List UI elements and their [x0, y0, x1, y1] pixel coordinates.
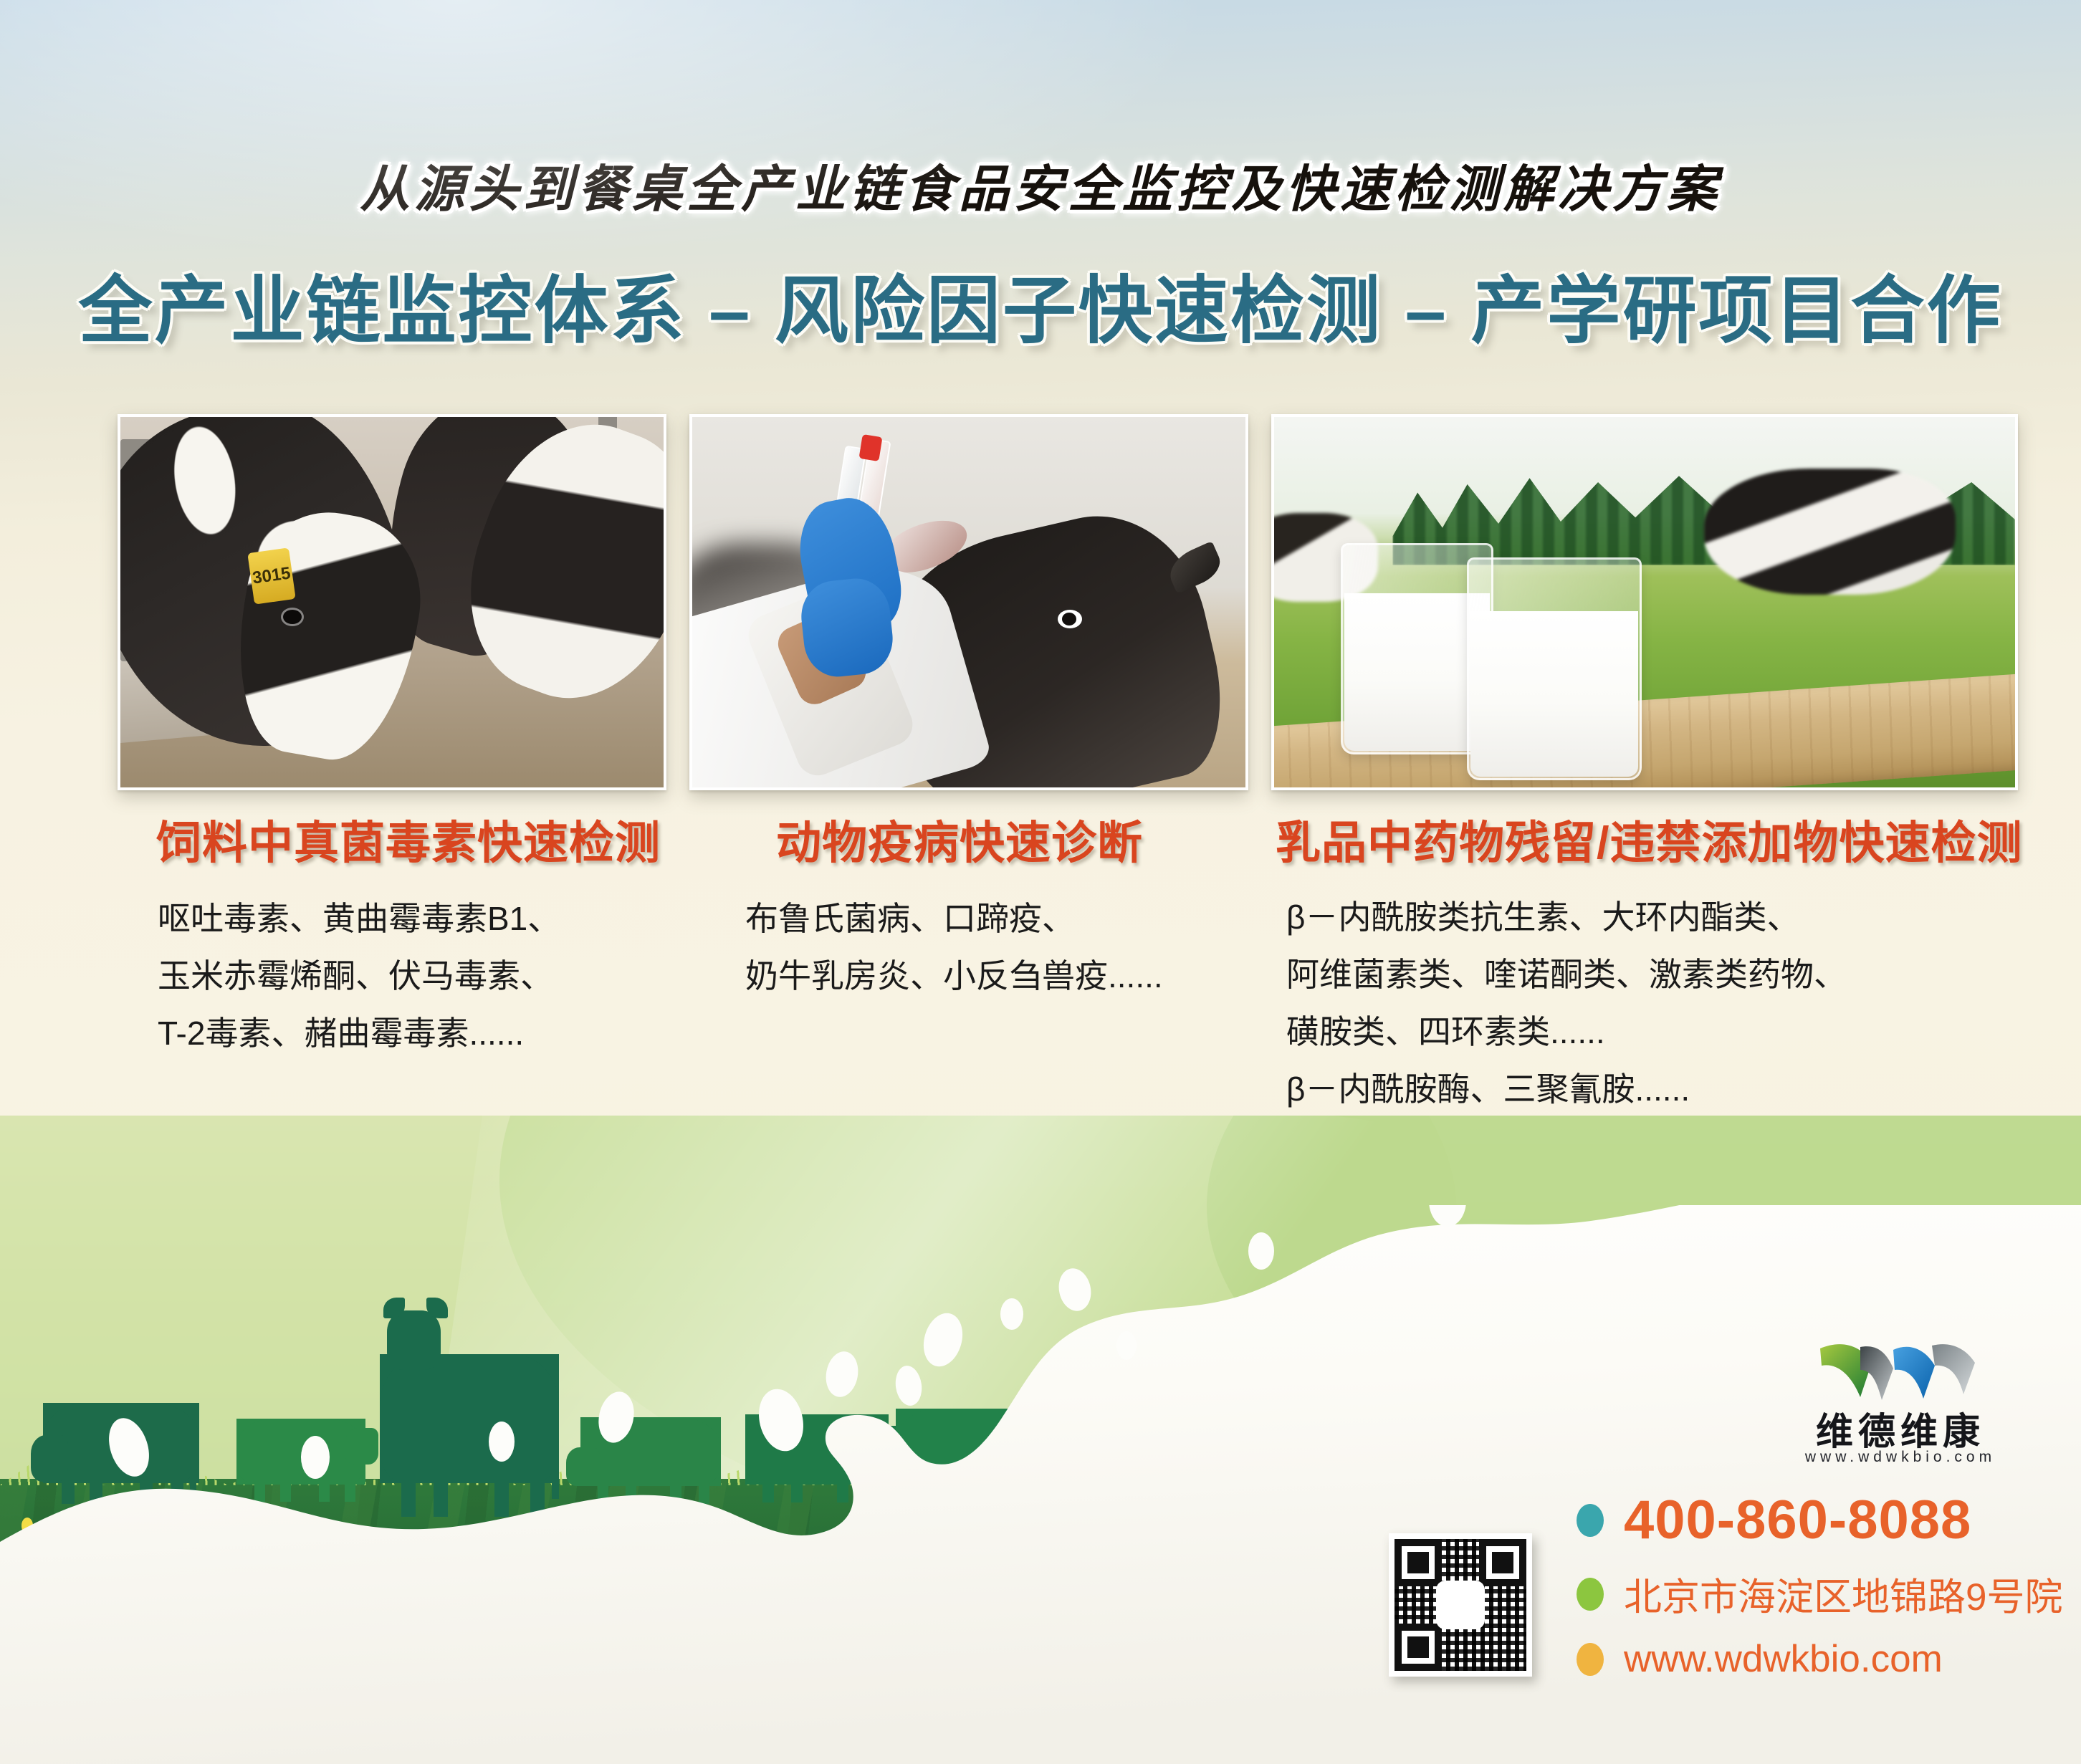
photo-milk-glasses [1271, 414, 2018, 790]
photo-row: 3015 [0, 414, 2081, 790]
brand-url-small: www.wdwkbio.com [1779, 1449, 2022, 1466]
web-dot-icon [1577, 1643, 1604, 1676]
photo-vet-sampling [689, 414, 1248, 790]
contact-row-address: 北京市海淀区地锦路9号院 [1577, 1567, 2049, 1621]
w-ribbon-logo-icon [1816, 1341, 1981, 1403]
brand-logo: 维德维康 www.wdwkbio.com [1779, 1341, 2022, 1485]
cow-silhouette [236, 1419, 365, 1485]
cow-silhouette [43, 1403, 199, 1483]
body-line: β－内酰胺类抗生素、大环内酯类、 [1286, 888, 1847, 946]
poster-canvas: 从源头到餐桌全产业链食品安全监控及快速检测解决方案 全产业链监控体系 – 风险因… [0, 0, 2081, 1764]
body-line: β－内酰胺酶、三聚氰胺...... [1286, 1060, 1847, 1118]
cow-silhouette [580, 1417, 721, 1486]
page-title: 全产业链监控体系 – 风险因子快速检测 – 产学研项目合作 [0, 251, 2081, 358]
cow-silhouette [380, 1354, 559, 1483]
brand-name: 维德维康 [1779, 1401, 2022, 1455]
body-line: 呕吐毒素、黄曲霉毒素B1、 [158, 890, 560, 947]
phone-number[interactable]: 400-860-8088 [1624, 1489, 1971, 1551]
cow-silhouette [896, 1409, 1052, 1483]
cow-silhouette [745, 1414, 889, 1485]
section-caption-dairy: 乳品中药物残留/违禁添加物快速检测 [1276, 807, 2023, 872]
contact-block: 400-860-8088 北京市海淀区地锦路9号院 www.wdwkbio.co… [1577, 1489, 2049, 1697]
section-body-feed: 呕吐毒素、黄曲霉毒素B1、 玉米赤霉烯酮、伏马毒素、 T-2毒素、赭曲霉毒素..… [158, 890, 560, 1062]
body-line: 奶牛乳房炎、小反刍兽疫...... [745, 947, 1163, 1005]
body-line: T-2毒素、赭曲霉毒素...... [158, 1005, 560, 1062]
body-line: 玉米赤霉烯酮、伏马毒素、 [158, 947, 560, 1005]
body-line: 阿维菌素类、喹诺酮类、激素类药物、 [1286, 946, 1847, 1003]
contact-row-phone: 400-860-8088 [1577, 1489, 2049, 1551]
body-line: 磺胺类、四环素类...... [1286, 1003, 1847, 1060]
section-caption-feed: 饲料中真菌毒素快速检测 [156, 807, 661, 872]
cow-ear-tag: 3015 [247, 547, 295, 604]
qr-code[interactable] [1389, 1533, 1532, 1677]
qr-center-logo-icon [1438, 1583, 1483, 1627]
address-dot-icon [1577, 1578, 1604, 1611]
website-url[interactable]: www.wdwkbio.com [1624, 1637, 1943, 1681]
company-address: 北京市海淀区地锦路9号院 [1624, 1567, 2062, 1621]
contact-row-website: www.wdwkbio.com [1577, 1637, 2049, 1681]
section-body-dairy: β－内酰胺类抗生素、大环内酯类、 阿维菌素类、喹诺酮类、激素类药物、 磺胺类、四… [1286, 888, 1847, 1118]
section-caption-disease: 动物疫病快速诊断 [776, 807, 1143, 872]
body-line: 布鲁氏菌病、口蹄疫、 [745, 890, 1163, 947]
poster-subtitle: 从源头到餐桌全产业链食品安全监控及快速检测解决方案 [0, 149, 2081, 221]
section-body-disease: 布鲁氏菌病、口蹄疫、 奶牛乳房炎、小反刍兽疫...... [745, 890, 1163, 1005]
photo-feed-cows: 3015 [118, 414, 666, 790]
phone-dot-icon [1577, 1504, 1604, 1537]
